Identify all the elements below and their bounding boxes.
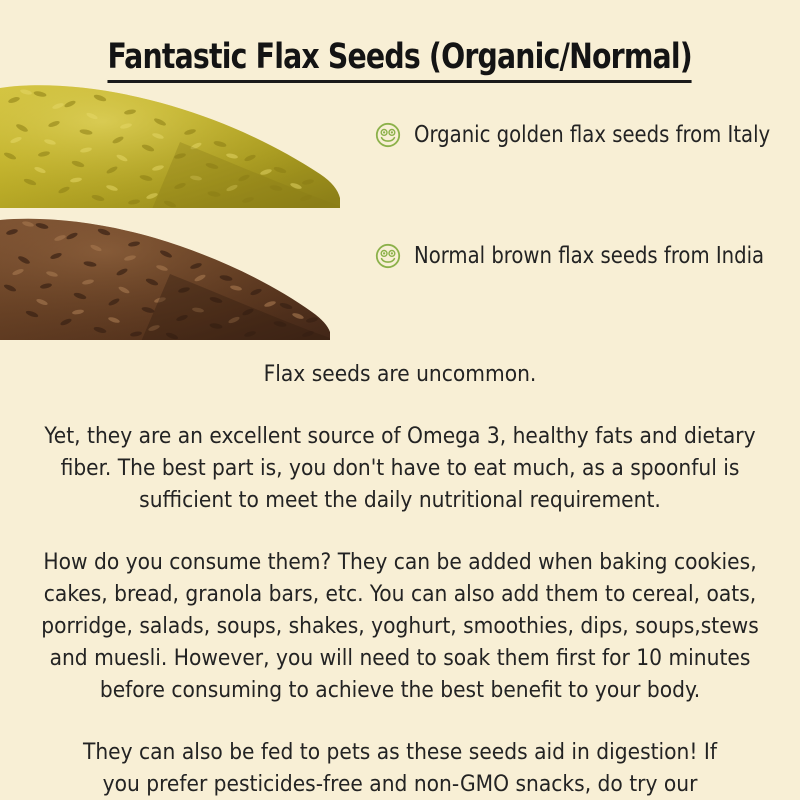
- smiley-face-icon: [375, 243, 401, 269]
- brown-seed-pile-graphic: [0, 216, 330, 344]
- feature-item-organic: Organic golden flax seeds from Italy: [375, 122, 789, 148]
- pets-paragraph: They can also be fed to pets as these se…: [30, 736, 770, 800]
- golden-flax-seed-image: [0, 82, 340, 214]
- smiley-face-icon: [375, 122, 401, 148]
- feature-item-normal: Normal brown flax seeds from India: [375, 243, 783, 269]
- body-copy: Flax seeds are uncommon. Yet, they are a…: [30, 358, 770, 800]
- page-title: Fantastic Flax Seeds (Organic/Normal): [108, 37, 692, 83]
- golden-seed-pile-graphic: [0, 82, 340, 214]
- usage-paragraph: How do you consume them? They can be add…: [30, 546, 770, 706]
- product-description-page: Fantastic Flax Seeds (Organic/Normal): [0, 0, 800, 800]
- lead-paragraph: Flax seeds are uncommon.: [30, 358, 770, 390]
- benefits-paragraph: Yet, they are an excellent source of Ome…: [30, 420, 770, 516]
- feature-label: Normal brown flax seeds from India: [414, 243, 764, 269]
- feature-label: Organic golden flax seeds from Italy: [414, 122, 770, 148]
- brown-flax-seed-image: [0, 216, 330, 344]
